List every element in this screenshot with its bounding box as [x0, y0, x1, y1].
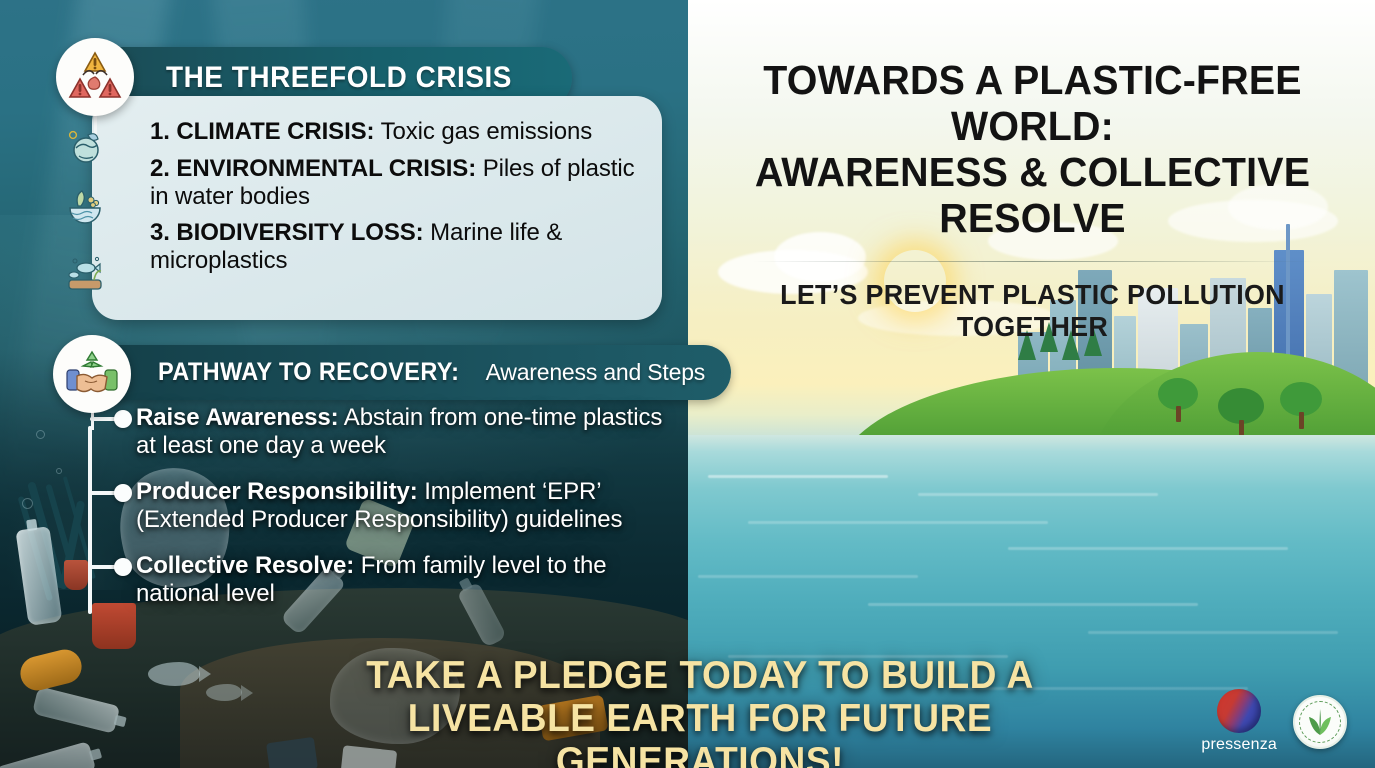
infographic-poster: THE THREEFOLD CRISIS 1. CLIMATE CRISIS: … [0, 0, 1375, 768]
page-subtitle: LET’S PREVENT PLASTIC POLLUTION TOGETHER [713, 279, 1351, 343]
title-line-2: AWARENESS & COLLECTIVE RESOLVE [755, 149, 1310, 241]
step-label: Producer Responsibility: [136, 478, 418, 505]
warning-triangles-icon [56, 38, 134, 116]
step-bullet-dot [114, 558, 132, 576]
step-bullet-dot [114, 484, 132, 502]
title-line-1: TOWARDS A PLASTIC-FREE WORLD: [763, 57, 1302, 149]
crisis-header-title: THE THREEFOLD CRISIS [166, 61, 512, 95]
crisis-item-number: 1. [150, 118, 170, 145]
logo-group: pressenza [1201, 689, 1347, 754]
pathway-badge-stem [91, 412, 94, 430]
pathway-step: Producer Responsibility: Implement ‘EPR’… [88, 478, 688, 534]
pathway-header-pill: PATHWAY TO RECOVERY: Awareness and Steps [92, 345, 731, 400]
green-leaf-seal-logo[interactable] [1293, 695, 1347, 749]
step-label: Collective Resolve: [136, 552, 354, 579]
crisis-item-label: CLIMATE CRISIS: [176, 118, 374, 145]
pathway-header-title: PATHWAY TO RECOVERY: [158, 358, 459, 387]
pressenza-sphere-icon [1217, 689, 1261, 733]
page-title: TOWARDS A PLASTIC-FREE WORLD: AWARENESS … [713, 58, 1351, 242]
crisis-icon-column [66, 126, 106, 294]
headline-block: TOWARDS A PLASTIC-FREE WORLD: AWARENESS … [700, 58, 1365, 343]
crisis-item: 2. ENVIRONMENTAL CRISIS: Piles of plasti… [150, 155, 636, 211]
step-label: Raise Awareness: [136, 404, 339, 431]
crisis-item: 3. BIODIVERSITY LOSS: Marine life & micr… [150, 219, 636, 275]
pressenza-logo[interactable]: pressenza [1201, 689, 1277, 754]
crisis-item-text: Toxic gas emissions [381, 118, 593, 145]
pathway-step: Raise Awareness: Abstain from one-time p… [88, 404, 688, 460]
overlay-content: THE THREEFOLD CRISIS 1. CLIMATE CRISIS: … [0, 0, 1375, 768]
earth-climate-icon [66, 126, 104, 170]
crisis-item-number: 2. [150, 155, 170, 182]
crisis-item-label: ENVIRONMENTAL CRISIS: [176, 155, 476, 182]
water-basin-icon [66, 188, 104, 232]
crisis-item-label: BIODIVERSITY LOSS: [176, 219, 423, 246]
pathway-step: Collective Resolve: From family level to… [88, 552, 688, 608]
pathway-steps: Raise Awareness: Abstain from one-time p… [88, 404, 688, 626]
pledge-banner: TAKE A PLEDGE TODAY TO BUILD A LIVEABLE … [320, 655, 1080, 768]
title-divider [753, 261, 1313, 262]
pledge-line-1: TAKE A PLEDGE TODAY TO BUILD A [320, 655, 1080, 698]
marine-life-icon [66, 250, 104, 294]
pathway-header-subtitle: Awareness and Steps [486, 359, 706, 386]
pressenza-wordmark: pressenza [1201, 736, 1277, 754]
pledge-line-2: LIVEABLE EARTH FOR FUTURE GENERATIONS! [320, 698, 1080, 768]
crisis-item-number: 3. [150, 219, 170, 246]
crisis-card: 1. CLIMATE CRISIS: Toxic gas emissions 2… [92, 96, 662, 320]
crisis-item: 1. CLIMATE CRISIS: Toxic gas emissions [150, 118, 636, 146]
handshake-recycle-icon [53, 335, 131, 413]
step-bullet-dot [114, 410, 132, 428]
